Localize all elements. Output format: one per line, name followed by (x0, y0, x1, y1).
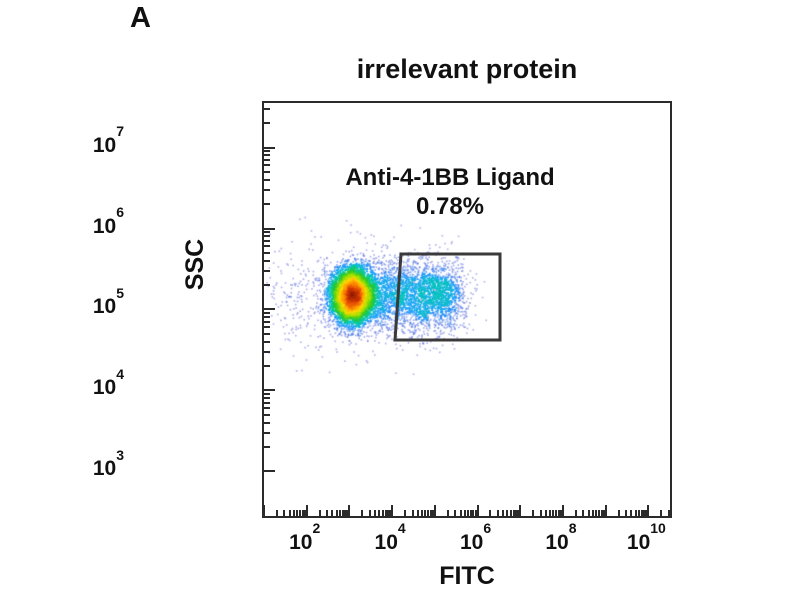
y-tick-minor (264, 341, 270, 343)
y-tick-minor (264, 321, 270, 323)
y-tick-minor (264, 154, 270, 156)
x-tick-minor (464, 510, 466, 516)
y-tick-major (264, 147, 275, 149)
y-tick-minor (264, 316, 270, 318)
y-tick-minor (264, 231, 270, 233)
x-tick-minor (276, 510, 278, 516)
gate-annotation: Anti-4-1BB Ligand 0.78% (300, 163, 600, 222)
y-tick-minor (264, 235, 270, 237)
y-tick-minor (264, 446, 270, 448)
y-tick-minor (264, 108, 270, 110)
x-tick-minor (421, 510, 423, 516)
x-tick-minor (630, 510, 632, 516)
x-tick-major (263, 505, 265, 516)
x-tick-label: 1010 (627, 528, 666, 555)
x-tick-minor (592, 510, 594, 516)
x-tick-minor (293, 510, 295, 516)
x-tick-major (477, 505, 479, 516)
x-tick-minor (582, 510, 584, 516)
plot-title: irrelevant protein (262, 54, 672, 85)
x-tick-minor (549, 510, 551, 516)
y-tick-label: 107 (93, 131, 124, 158)
x-tick-minor (331, 510, 333, 516)
x-tick-minor (412, 510, 414, 516)
x-tick-minor (404, 510, 406, 516)
x-tick-major (391, 505, 393, 516)
x-tick-minor (588, 510, 590, 516)
x-tick-minor (447, 510, 449, 516)
y-tick-minor (264, 260, 270, 262)
y-tick-minor (264, 333, 270, 335)
x-tick-minor (319, 510, 321, 516)
y-tick-minor (264, 164, 270, 166)
panel-letter: A (130, 2, 151, 35)
x-tick-minor (289, 510, 291, 516)
gate-annotation-line2: 0.78% (300, 192, 600, 221)
x-tick-minor (489, 510, 491, 516)
x-tick-minor (618, 510, 620, 516)
x-tick-minor (506, 510, 508, 516)
x-tick-major (519, 505, 521, 516)
y-tick-minor (264, 171, 270, 173)
x-tick-minor (336, 510, 338, 516)
y-tick-minor (264, 189, 270, 191)
x-tick-minor (369, 510, 371, 516)
y-tick-label: 103 (93, 454, 124, 481)
x-tick-minor (283, 510, 285, 516)
x-tick-minor (638, 510, 640, 516)
y-tick-minor (264, 240, 270, 242)
y-tick-major (264, 389, 275, 391)
y-tick-label: 105 (93, 292, 124, 319)
x-tick-minor (635, 510, 637, 516)
x-tick-minor (660, 510, 662, 516)
y-tick-minor (264, 432, 270, 434)
y-tick-minor (264, 326, 270, 328)
x-tick-minor (374, 510, 376, 516)
x-tick-minor (497, 510, 499, 516)
x-tick-minor (382, 510, 384, 516)
x-tick-minor (595, 510, 597, 516)
y-axis-title: SSC (181, 239, 210, 290)
gate-annotation-line1: Anti-4-1BB Ligand (300, 163, 600, 192)
y-tick-label: 104 (93, 373, 124, 400)
x-tick-minor (668, 510, 670, 516)
x-tick-minor (417, 510, 419, 516)
y-tick-minor (264, 397, 270, 399)
x-tick-minor (532, 510, 534, 516)
x-tick-minor (467, 510, 469, 516)
y-tick-minor (264, 351, 270, 353)
x-tick-major (605, 505, 607, 516)
x-tick-minor (510, 510, 512, 516)
y-tick-label: 106 (93, 212, 124, 239)
y-tick-minor (264, 179, 270, 181)
y-tick-minor (264, 284, 270, 286)
y-tick-minor (264, 407, 270, 409)
gate-polygon-shape[interactable] (395, 254, 500, 340)
y-tick-minor (264, 245, 270, 247)
x-tick-minor (540, 510, 542, 516)
x-tick-minor (296, 510, 298, 516)
x-tick-minor (339, 510, 341, 516)
x-tick-minor (502, 510, 504, 516)
x-tick-major (434, 505, 436, 516)
x-tick-minor (625, 510, 627, 516)
y-tick-minor (264, 252, 270, 254)
figure-panel-a: A irrelevant protein SSC FITC 1071061051… (0, 0, 800, 600)
y-tick-major (264, 470, 275, 472)
x-tick-major (348, 505, 350, 516)
y-tick-minor (264, 159, 270, 161)
x-tick-minor (575, 510, 577, 516)
x-tick-minor (552, 510, 554, 516)
y-tick-minor (264, 402, 270, 404)
x-tick-label: 108 (545, 528, 576, 555)
y-tick-major (264, 308, 275, 310)
x-tick-label: 104 (375, 528, 406, 555)
y-tick-minor (264, 422, 270, 424)
x-tick-minor (326, 510, 328, 516)
y-tick-minor (264, 312, 270, 314)
y-tick-minor (264, 203, 270, 205)
x-tick-minor (424, 510, 426, 516)
y-tick-minor (264, 393, 270, 395)
y-tick-minor (264, 414, 270, 416)
y-tick-minor (264, 365, 270, 367)
x-tick-major (562, 505, 564, 516)
y-tick-major (264, 228, 275, 230)
x-tick-minor (378, 510, 380, 516)
x-tick-label: 102 (289, 528, 320, 555)
y-tick-minor (264, 270, 270, 272)
y-tick-minor (264, 122, 270, 124)
x-tick-major (306, 505, 308, 516)
x-tick-minor (460, 510, 462, 516)
y-tick-minor (264, 150, 270, 152)
x-tick-minor (361, 510, 363, 516)
x-tick-minor (545, 510, 547, 516)
x-axis-title: FITC (262, 562, 672, 591)
x-tick-minor (454, 510, 456, 516)
x-tick-label: 106 (460, 528, 491, 555)
x-tick-major (647, 505, 649, 516)
